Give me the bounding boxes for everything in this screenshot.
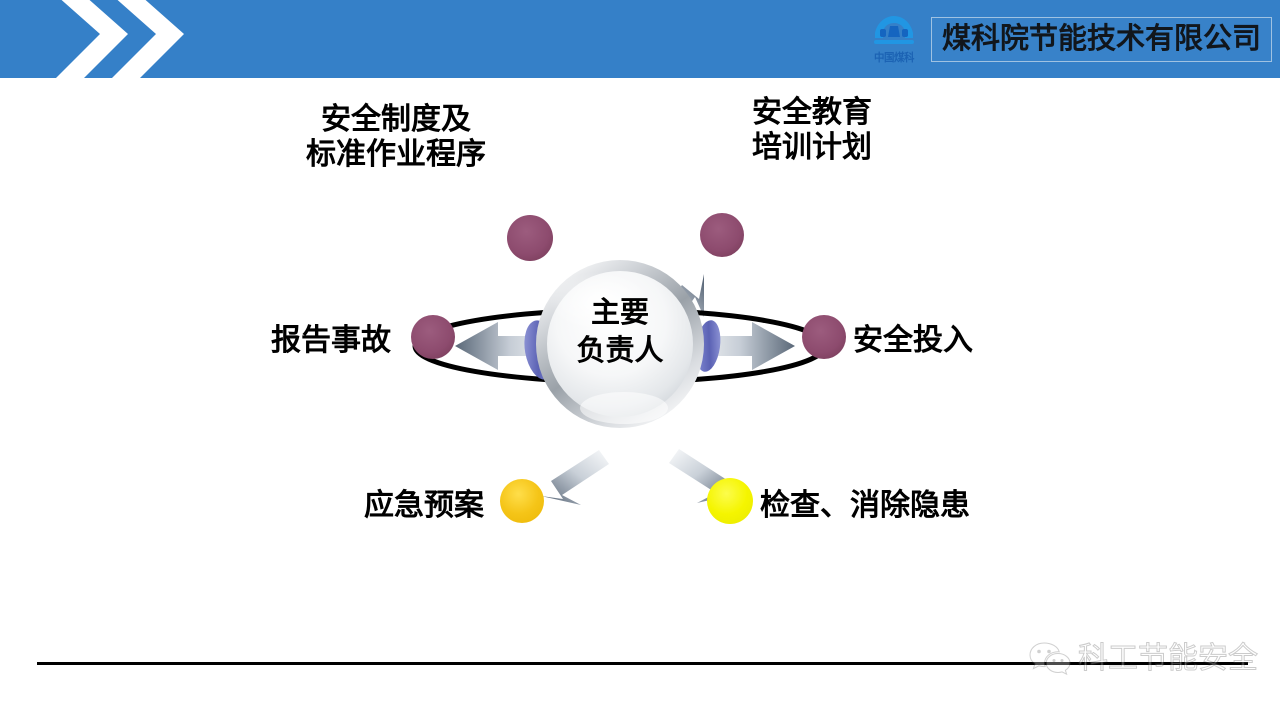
node-label-training-line2: 培训计划 — [752, 130, 872, 165]
logo-cn-label: 中国煤科 — [874, 52, 914, 64]
center-sphere — [536, 260, 704, 428]
node-dot-training[interactable] — [700, 213, 744, 257]
node-label-policy-line1: 安全制度及 — [306, 102, 486, 137]
company-name: 煤科院节能技术有限公司 — [942, 20, 1261, 56]
node-label-policy[interactable]: 安全制度及 标准作业程序 — [306, 102, 486, 173]
wechat-watermark: 科工节能安全 — [1028, 640, 1258, 678]
company-logo-block: 中国煤科 煤科院节能技术有限公司 — [863, 4, 1272, 74]
header-bar: 中国煤科 煤科院节能技术有限公司 — [0, 0, 1280, 78]
node-dot-hazard[interactable] — [707, 478, 753, 524]
company-name-box: 煤科院节能技术有限公司 — [931, 17, 1272, 62]
node-dot-invest[interactable] — [802, 315, 846, 359]
wechat-icon — [1028, 640, 1072, 678]
node-dot-emergency[interactable] — [500, 479, 544, 523]
node-dot-report[interactable] — [411, 315, 455, 359]
double-chevron-right-icon — [40, 0, 220, 86]
node-dot-policy[interactable] — [507, 215, 553, 261]
china-coal-science-emblem-icon: 中国煤科 — [863, 8, 925, 70]
node-label-training-line1: 安全教育 — [752, 95, 872, 130]
node-label-hazard[interactable]: 检查、消除隐患 — [760, 488, 970, 523]
node-label-invest[interactable]: 安全投入 — [853, 323, 973, 358]
node-label-report[interactable]: 报告事故 — [271, 323, 391, 358]
arrow-to-emergency — [541, 450, 609, 505]
node-label-emergency[interactable]: 应急预案 — [364, 488, 484, 523]
node-label-training[interactable]: 安全教育 培训计划 — [752, 95, 872, 166]
radial-diagram — [0, 78, 1280, 648]
watermark-text: 科工节能安全 — [1078, 642, 1258, 676]
node-label-policy-line2: 标准作业程序 — [306, 137, 486, 172]
diagram-stage: 主要 负责人 安全制度及 标准作业程序 安全教育 培训计划 报告事故 安全投入 … — [0, 78, 1280, 648]
